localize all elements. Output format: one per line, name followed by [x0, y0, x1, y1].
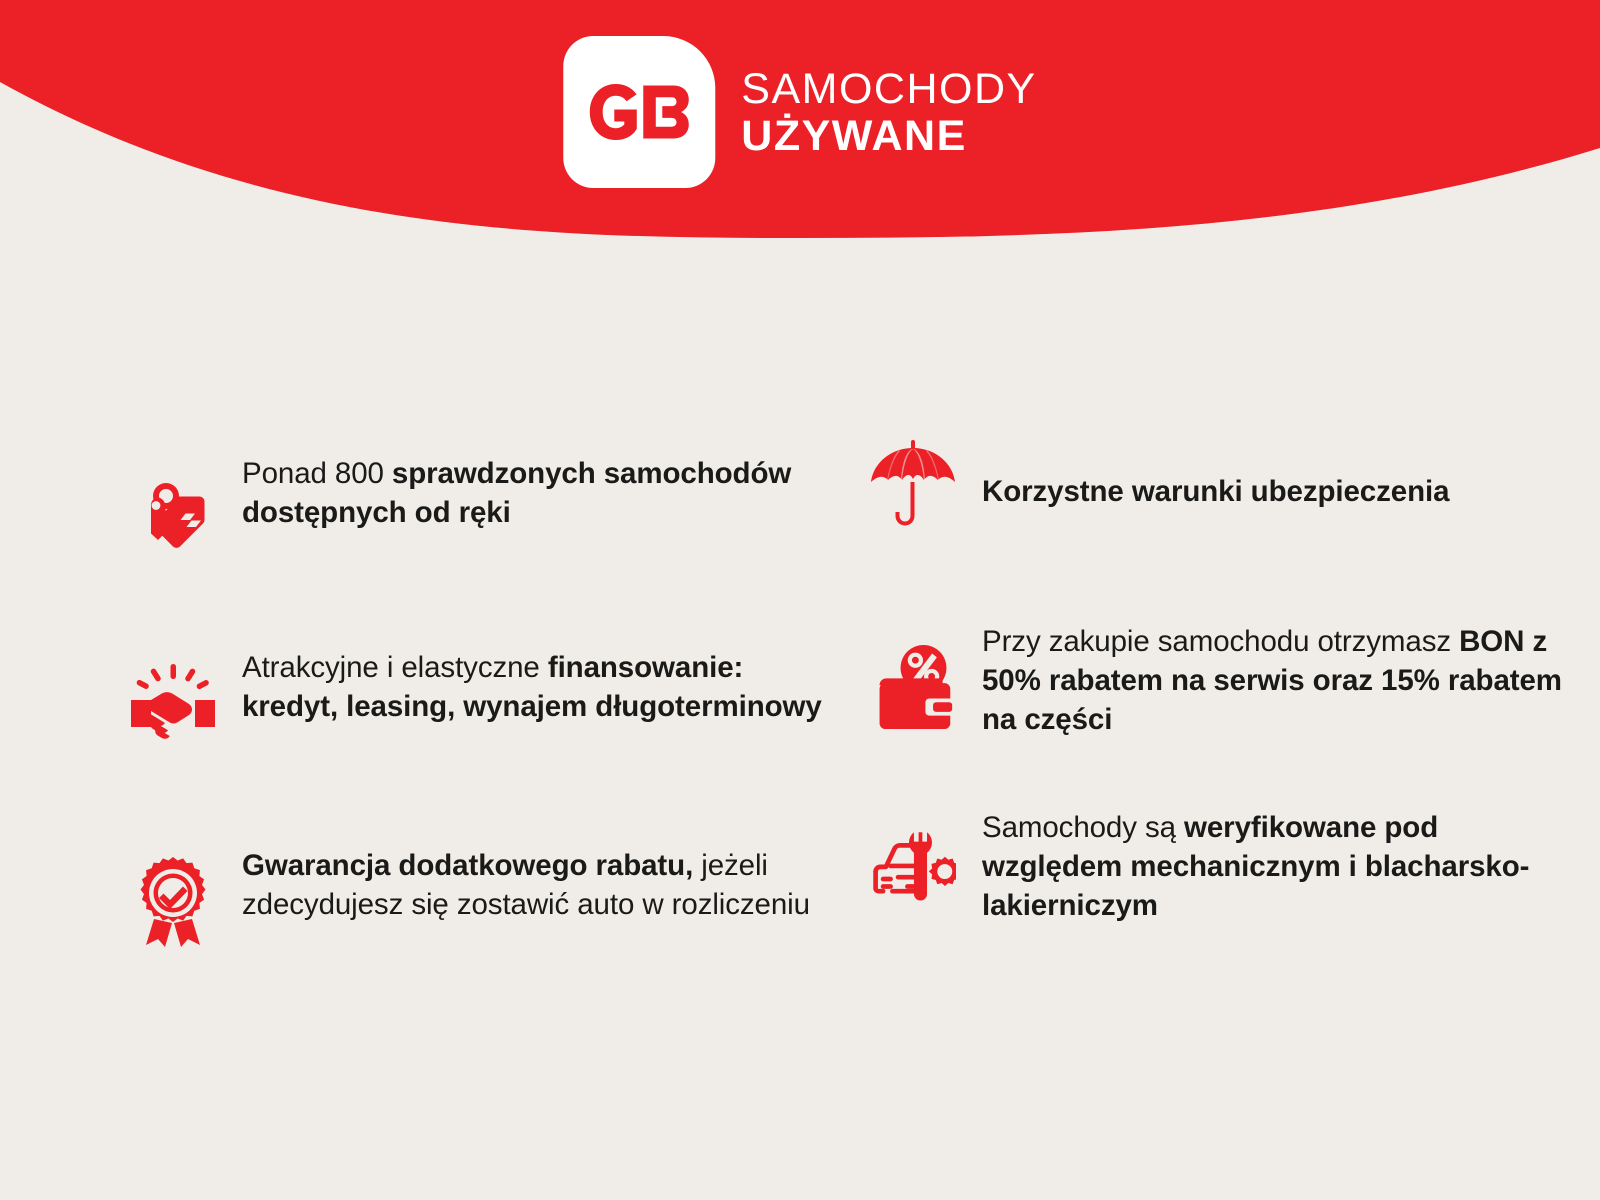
handshake-icon	[130, 660, 216, 746]
car-wrench-gear-icon	[870, 822, 956, 908]
benefit-text-part: Gwarancja dodatkowego rabatu,	[242, 849, 701, 882]
gb-monogram-icon	[587, 84, 691, 140]
benefit-text: Ponad 800 sprawdzonych samochodów dostęp…	[242, 452, 842, 532]
benefit-text-part: Ponad 800	[242, 457, 392, 490]
benefit-text-part: Przy zakupie samochodu otrzymasz	[982, 625, 1459, 658]
benefit-item-financing: Atrakcyjne i elastyczne finansowanie: kr…	[130, 646, 850, 746]
benefits-column-right: Korzystne warunki ubezpieczenia	[870, 430, 1590, 946]
benefit-text: Korzystne warunki ubezpieczenia	[982, 450, 1449, 511]
benefit-item-service-voucher: Przy zakupie samochodu otrzymasz BON z 5…	[870, 620, 1590, 740]
benefits-grid: Ponad 800 sprawdzonych samochodów dostęp…	[0, 430, 1600, 946]
car-key-tag-icon	[130, 468, 216, 554]
brand-logo-lockup[interactable]: SAMOCHODY UŻYWANE	[563, 36, 1036, 188]
wordmark-line-1: SAMOCHODY	[741, 68, 1036, 112]
wallet-percent-icon	[870, 644, 956, 730]
wordmark-line-2: UŻYWANE	[741, 112, 1036, 160]
benefit-text-part: Korzystne warunki ubezpieczenia	[982, 475, 1449, 508]
benefit-text: Samochody są weryfikowane pod względem m…	[982, 806, 1582, 926]
brand-wordmark: SAMOCHODY UŻYWANE	[741, 64, 1036, 160]
benefit-item-verified: Samochody są weryfikowane pod względem m…	[870, 806, 1590, 926]
benefit-item-available-cars: Ponad 800 sprawdzonych samochodów dostęp…	[130, 452, 850, 554]
gb-logo-mark	[563, 36, 715, 188]
benefit-text: Przy zakupie samochodu otrzymasz BON z 5…	[982, 620, 1582, 740]
benefit-item-extra-discount: Gwarancja dodatkowego rabatu, jeżeli zde…	[130, 844, 850, 946]
benefits-column-left: Ponad 800 sprawdzonych samochodów dostęp…	[130, 430, 850, 946]
benefit-item-insurance: Korzystne warunki ubezpieczenia	[870, 450, 1590, 530]
benefit-text-part: Atrakcyjne i elastyczne	[242, 651, 548, 684]
benefit-text: Atrakcyjne i elastyczne finansowanie: kr…	[242, 646, 842, 726]
benefit-text: Gwarancja dodatkowego rabatu, jeżeli zde…	[242, 844, 842, 924]
benefit-text-part: Samochody są	[982, 811, 1184, 844]
header-banner: SAMOCHODY UŻYWANE	[0, 0, 1600, 250]
award-badge-check-icon	[130, 860, 216, 946]
umbrella-icon	[870, 444, 956, 530]
